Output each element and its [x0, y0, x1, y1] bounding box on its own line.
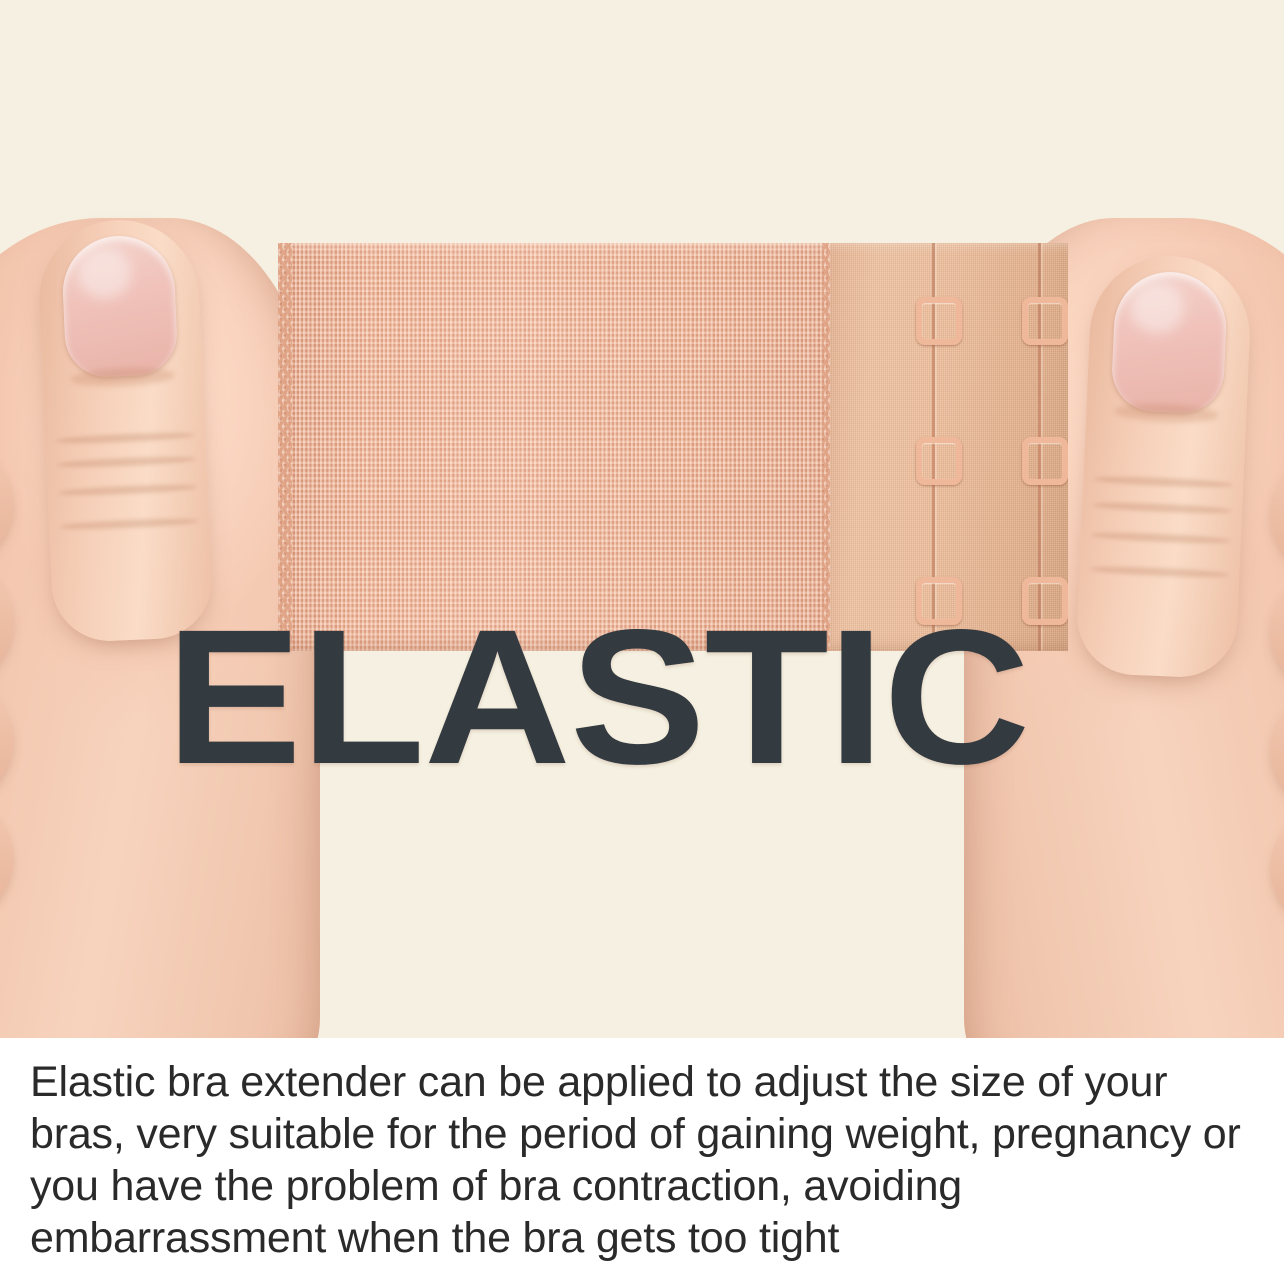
finger-crease [55, 431, 196, 445]
knuckle [0, 556, 14, 688]
finger-crease [1090, 531, 1231, 545]
right-knuckles [1264, 438, 1284, 958]
right-thumbnail [1110, 270, 1228, 415]
knuckle [1270, 448, 1284, 580]
eye-hook [916, 297, 962, 345]
caption-panel: Elastic bra extender can be applied to a… [0, 1038, 1284, 1284]
knuckle [0, 674, 14, 806]
knuckle [1270, 566, 1284, 698]
finger-crease [56, 455, 197, 469]
knuckle [0, 792, 14, 924]
eye-hook [1022, 297, 1068, 345]
knuckle [0, 438, 14, 570]
finger-crease [57, 483, 198, 497]
product-photo: ELASTIC [0, 0, 1284, 1038]
left-thumb [36, 217, 214, 644]
eye-hook [1022, 437, 1068, 485]
eye-hook [916, 437, 962, 485]
product-image-card: ELASTIC Elastic bra extender can be appl… [0, 0, 1284, 1284]
headline-elastic: ELASTIC [166, 603, 1226, 791]
knuckle [1270, 802, 1284, 934]
finger-crease [1089, 565, 1230, 579]
left-knuckles [0, 438, 20, 958]
left-thumbnail [61, 234, 179, 379]
finger-crease [59, 517, 200, 531]
product-description: Elastic bra extender can be applied to a… [30, 1056, 1260, 1264]
finger-crease [1093, 475, 1234, 489]
knuckle [1270, 684, 1284, 816]
finger-crease [1092, 501, 1233, 515]
